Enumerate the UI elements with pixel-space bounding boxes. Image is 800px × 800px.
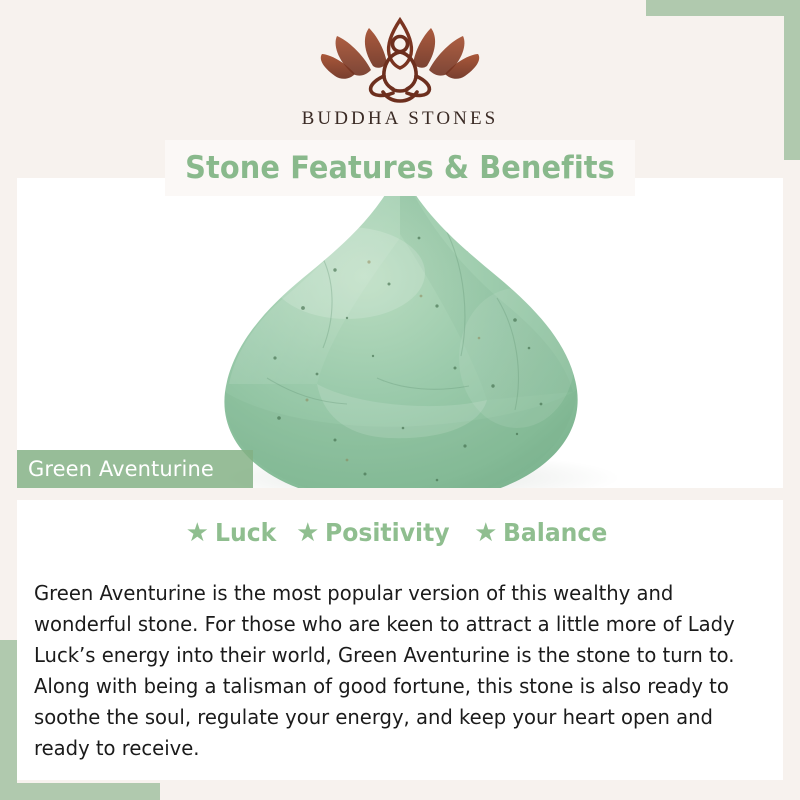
page-title: Stone Features & Benefits [185,150,615,186]
stone-name-label: Green Aventurine [17,450,253,488]
benefit-label: Balance [503,518,607,547]
frame-accent-left-edge [0,640,17,800]
brand-name: BUDDHA STONES [0,108,800,130]
lotus-meditation-figure-logo-icon [305,14,495,106]
benefits-row: ★ Luck ★ Positivity ★ Balance [17,518,783,547]
star-icon: ★ [474,519,497,545]
title-banner: Stone Features & Benefits [165,140,635,196]
benefit-label: Positivity [325,518,450,547]
stone-name-text: Green Aventurine [17,457,214,481]
stone-photo [17,178,783,488]
benefit-label: Luck [215,518,276,547]
star-icon: ★ [296,519,319,545]
stone-description: Green Aventurine is the most popular ver… [34,578,744,764]
infographic-poster: BUDDHA STONES Stone Features & Benefits [0,0,800,800]
benefit-item-luck: ★ Luck [186,518,281,547]
benefit-item-positivity: ★ Positivity [296,518,458,547]
star-icon: ★ [186,519,209,545]
benefit-item-balance: ★ Balance [474,518,614,547]
brand-logo-block: BUDDHA STONES [0,14,800,130]
frame-accent-bottom-left [0,783,160,800]
green-aventurine-stone-image [17,178,783,488]
